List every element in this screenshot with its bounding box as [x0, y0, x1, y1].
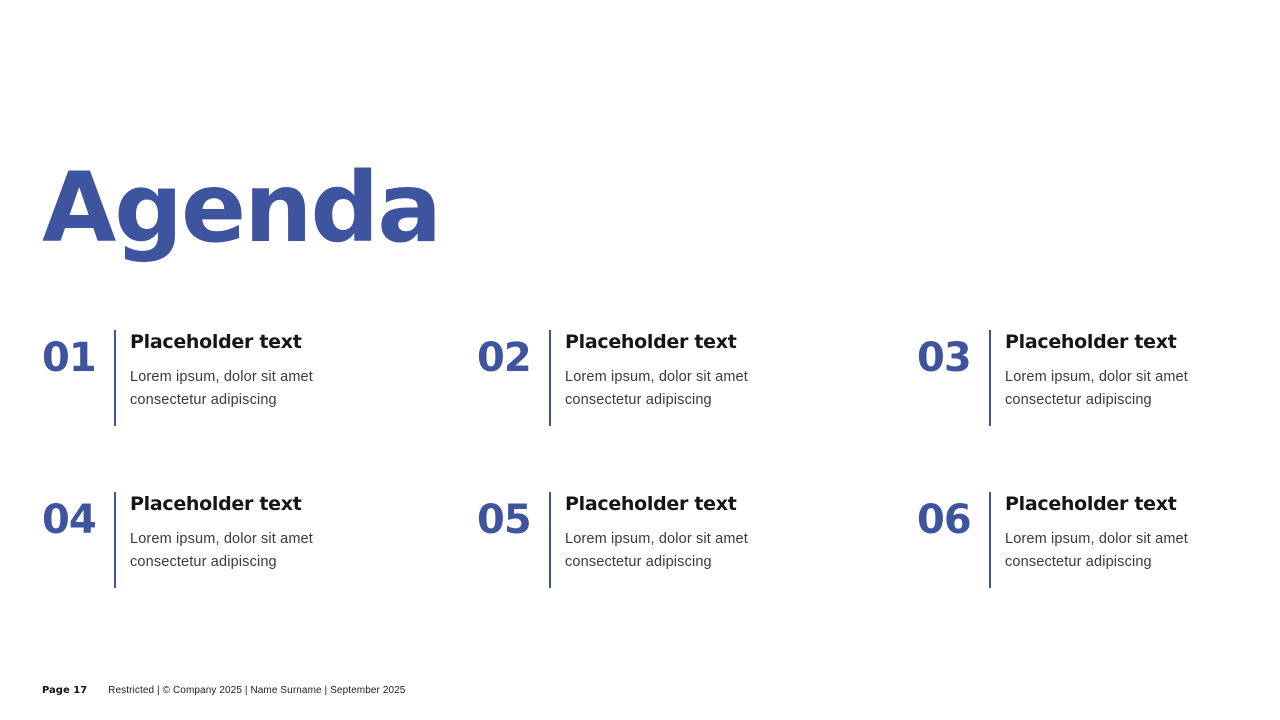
agenda-item-divider: [989, 330, 991, 426]
agenda-item-description-line-2: consectetur adipiscing: [130, 389, 477, 412]
agenda-item-body: Placeholder text Lorem ipsum, dolor sit …: [1005, 492, 1238, 574]
agenda-item-01[interactable]: 01 Placeholder text Lorem ipsum, dolor s…: [42, 330, 477, 426]
agenda-item-description: Lorem ipsum, dolor sit amet consectetur …: [1005, 528, 1238, 574]
agenda-item-04[interactable]: 04 Placeholder text Lorem ipsum, dolor s…: [42, 492, 477, 588]
agenda-item-description: Lorem ipsum, dolor sit amet consectetur …: [565, 366, 917, 412]
slide-footer: Page 17 Restricted | © Company 2025 | Na…: [42, 685, 405, 696]
agenda-item-number: 03: [917, 330, 989, 378]
agenda-item-divider: [549, 330, 551, 426]
agenda-item-body: Placeholder text Lorem ipsum, dolor sit …: [130, 492, 477, 574]
agenda-item-heading: Placeholder text: [1005, 494, 1238, 516]
agenda-item-description: Lorem ipsum, dolor sit amet consectetur …: [565, 528, 917, 574]
agenda-item-02[interactable]: 02 Placeholder text Lorem ipsum, dolor s…: [477, 330, 917, 426]
agenda-item-description-line-2: consectetur adipiscing: [565, 389, 917, 412]
agenda-item-number: 01: [42, 330, 114, 378]
agenda-item-description-line-1: Lorem ipsum, dolor sit amet: [565, 528, 917, 551]
agenda-item-description-line-1: Lorem ipsum, dolor sit amet: [1005, 528, 1238, 551]
agenda-row-top: 01 Placeholder text Lorem ipsum, dolor s…: [42, 330, 1238, 426]
footer-metadata: Restricted | © Company 2025 | Name Surna…: [108, 685, 405, 696]
agenda-item-description-line-2: consectetur adipiscing: [130, 551, 477, 574]
agenda-item-divider: [549, 492, 551, 588]
agenda-item-description: Lorem ipsum, dolor sit amet consectetur …: [1005, 366, 1238, 412]
agenda-item-heading: Placeholder text: [565, 332, 917, 354]
agenda-item-heading: Placeholder text: [565, 494, 917, 516]
agenda-item-05[interactable]: 05 Placeholder text Lorem ipsum, dolor s…: [477, 492, 917, 588]
agenda-item-divider: [114, 492, 116, 588]
agenda-slide: Agenda 01 Placeholder text Lorem ipsum, …: [0, 0, 1280, 720]
agenda-item-03[interactable]: 03 Placeholder text Lorem ipsum, dolor s…: [917, 330, 1238, 426]
agenda-item-description: Lorem ipsum, dolor sit amet consectetur …: [130, 528, 477, 574]
agenda-item-description-line-1: Lorem ipsum, dolor sit amet: [130, 528, 477, 551]
agenda-item-description-line-1: Lorem ipsum, dolor sit amet: [130, 366, 477, 389]
agenda-item-body: Placeholder text Lorem ipsum, dolor sit …: [1005, 330, 1238, 412]
agenda-item-description-line-2: consectetur adipiscing: [565, 551, 917, 574]
agenda-row-bottom: 04 Placeholder text Lorem ipsum, dolor s…: [42, 492, 1238, 588]
agenda-item-number: 02: [477, 330, 549, 378]
page-title: Agenda: [42, 160, 440, 256]
agenda-item-number: 06: [917, 492, 989, 540]
agenda-item-description-line-2: consectetur adipiscing: [1005, 389, 1238, 412]
agenda-item-06[interactable]: 06 Placeholder text Lorem ipsum, dolor s…: [917, 492, 1238, 588]
agenda-item-body: Placeholder text Lorem ipsum, dolor sit …: [565, 492, 917, 574]
agenda-item-divider: [989, 492, 991, 588]
agenda-item-number: 05: [477, 492, 549, 540]
agenda-item-description-line-1: Lorem ipsum, dolor sit amet: [1005, 366, 1238, 389]
agenda-item-body: Placeholder text Lorem ipsum, dolor sit …: [130, 330, 477, 412]
agenda-grid: 01 Placeholder text Lorem ipsum, dolor s…: [42, 330, 1238, 588]
agenda-item-body: Placeholder text Lorem ipsum, dolor sit …: [565, 330, 917, 412]
agenda-item-description-line-1: Lorem ipsum, dolor sit amet: [565, 366, 917, 389]
agenda-item-description-line-2: consectetur adipiscing: [1005, 551, 1238, 574]
agenda-item-divider: [114, 330, 116, 426]
agenda-item-description: Lorem ipsum, dolor sit amet consectetur …: [130, 366, 477, 412]
agenda-item-heading: Placeholder text: [1005, 332, 1238, 354]
agenda-item-heading: Placeholder text: [130, 494, 477, 516]
page-number-label: Page 17: [42, 685, 87, 696]
agenda-item-number: 04: [42, 492, 114, 540]
agenda-item-heading: Placeholder text: [130, 332, 477, 354]
